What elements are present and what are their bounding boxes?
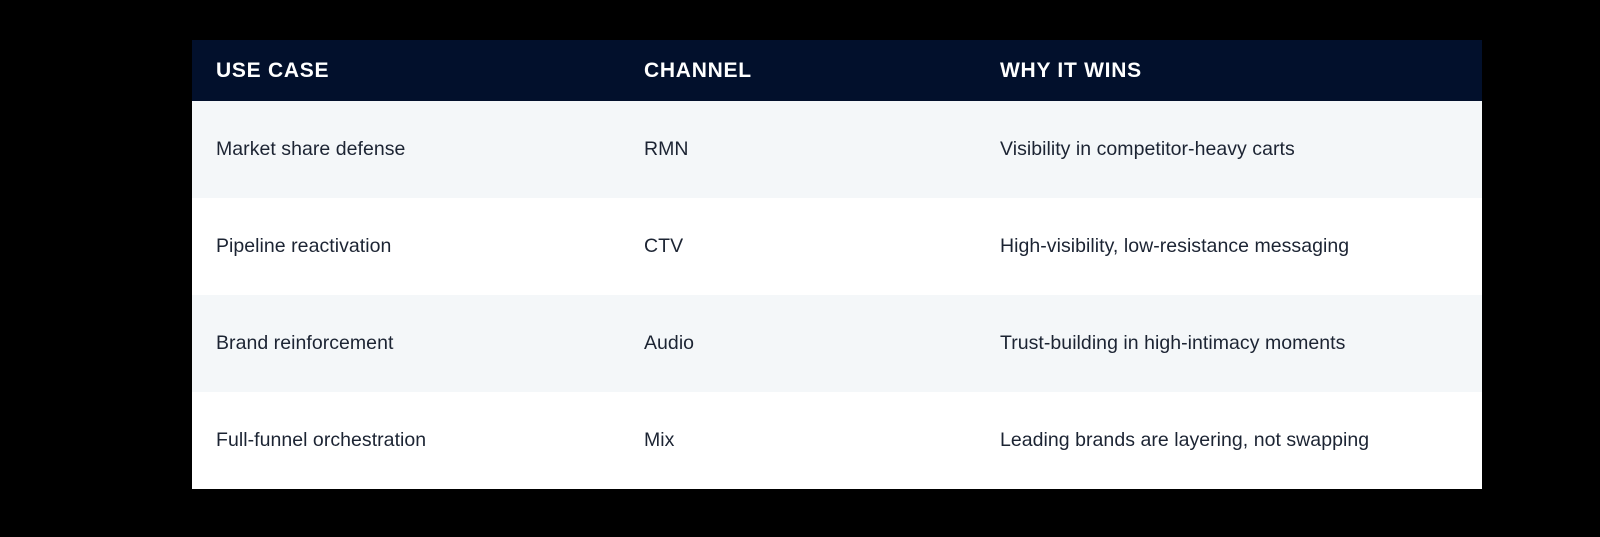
column-header-why-it-wins: WHY IT WINS [970,40,1482,101]
cell-why-it-wins: Leading brands are layering, not swappin… [970,392,1482,489]
cell-why-it-wins: Trust-building in high-intimacy moments [970,295,1482,392]
comparison-table: USE CASE CHANNEL WHY IT WINS Market shar… [192,40,1482,489]
table-row: Brand reinforcement Audio Trust-building… [192,295,1482,392]
table-row: Market share defense RMN Visibility in c… [192,101,1482,198]
table-header: USE CASE CHANNEL WHY IT WINS [192,40,1482,101]
cell-channel: Mix [620,392,970,489]
cell-why-it-wins: Visibility in competitor-heavy carts [970,101,1482,198]
table-row: Pipeline reactivation CTV High-visibilit… [192,198,1482,295]
page-canvas: USE CASE CHANNEL WHY IT WINS Market shar… [0,0,1600,537]
column-header-channel: CHANNEL [620,40,970,101]
cell-why-it-wins: High-visibility, low-resistance messagin… [970,198,1482,295]
cell-use-case: Brand reinforcement [192,295,620,392]
cell-use-case: Full-funnel orchestration [192,392,620,489]
cell-use-case: Pipeline reactivation [192,198,620,295]
cell-use-case: Market share defense [192,101,620,198]
table-body: Market share defense RMN Visibility in c… [192,101,1482,489]
table-row: Full-funnel orchestration Mix Leading br… [192,392,1482,489]
table-header-row: USE CASE CHANNEL WHY IT WINS [192,40,1482,101]
cell-channel: Audio [620,295,970,392]
cell-channel: CTV [620,198,970,295]
comparison-table-container: USE CASE CHANNEL WHY IT WINS Market shar… [192,40,1404,489]
column-header-use-case: USE CASE [192,40,620,101]
cell-channel: RMN [620,101,970,198]
